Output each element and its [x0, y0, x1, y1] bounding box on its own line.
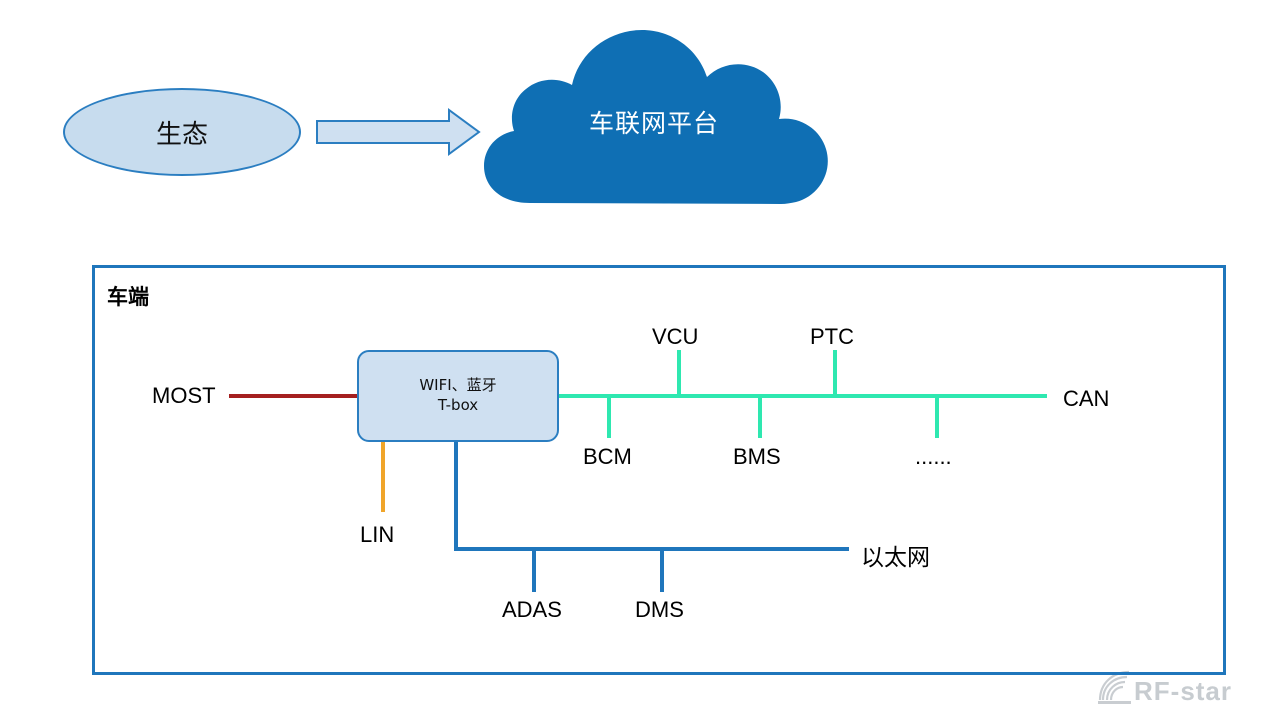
ecosystem-node[interactable]: 生态: [63, 88, 301, 176]
block-arrow-right: [317, 110, 479, 154]
bus-label-lin: LIN: [360, 522, 394, 548]
bus-label-ethernet: 以太网: [861, 538, 930, 572]
can-node-bcm: BCM: [583, 444, 632, 470]
ethernet-node-dms: DMS: [635, 597, 684, 623]
watermark-text: RF-star: [1134, 676, 1232, 707]
diagram-canvas: 生态 车联网平台 车端 WIFI、蓝牙 T-box MOST CAN LIN 以…: [0, 0, 1267, 713]
can-node-vcu: VCU: [652, 324, 698, 350]
bus-label-most: MOST: [152, 383, 216, 409]
tbox-label-line2: T-box: [438, 396, 478, 416]
ecosystem-label: 生态: [63, 88, 301, 176]
tbox-label-line1: WIFI、蓝牙: [419, 376, 496, 396]
tbox-node[interactable]: WIFI、蓝牙 T-box: [357, 350, 559, 442]
can-node-more: ......: [915, 444, 952, 470]
rf-star-watermark-icon: [1098, 672, 1131, 704]
vehicle-section-title: 车端: [107, 281, 149, 311]
ethernet-node-adas: ADAS: [502, 597, 562, 623]
can-node-bms: BMS: [733, 444, 781, 470]
bus-label-can: CAN: [1063, 386, 1109, 412]
cloud-platform-node[interactable]: 车联网平台: [484, 26, 824, 206]
cloud-platform-label: 车联网平台: [484, 26, 824, 206]
can-node-ptc: PTC: [810, 324, 854, 350]
diagram-content-layer: 生态 车联网平台 车端 WIFI、蓝牙 T-box MOST CAN LIN 以…: [0, 0, 1267, 713]
